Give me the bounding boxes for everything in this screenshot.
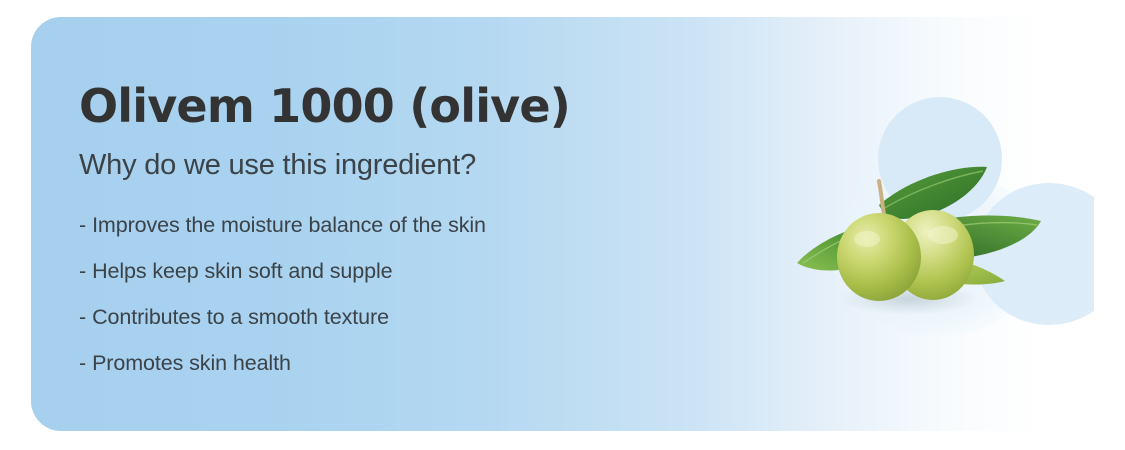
list-item-label: Contributes to a smooth texture [92,305,389,329]
list-dash: - [79,340,86,386]
banner-text-column: Olivem 1000 (olive) Why do we use this i… [79,80,719,386]
list-item-label: Improves the moisture balance of the ski… [92,213,486,237]
list-item-label: Promotes skin health [92,351,291,375]
page-title: Olivem 1000 (olive) [79,80,719,132]
list-dash: - [79,202,86,248]
ingredient-banner-card: Olivem 1000 (olive) Why do we use this i… [31,17,1094,431]
banner-subtitle: Why do we use this ingredient? [79,148,719,182]
list-item: -Contributes to a smooth texture [79,294,719,340]
benefit-list: -Improves the moisture balance of the sk… [79,202,719,386]
olive-branch-illustration [791,157,1091,347]
list-dash: - [79,294,86,340]
list-item: -Promotes skin health [79,340,719,386]
olive-fruit-front [837,213,921,301]
banner-stage: Olivem 1000 (olive) Why do we use this i… [0,0,1125,450]
list-item: -Improves the moisture balance of the sk… [79,202,719,248]
list-item: -Helps keep skin soft and supple [79,248,719,294]
list-dash: - [79,248,86,294]
list-item-label: Helps keep skin soft and supple [92,259,392,283]
